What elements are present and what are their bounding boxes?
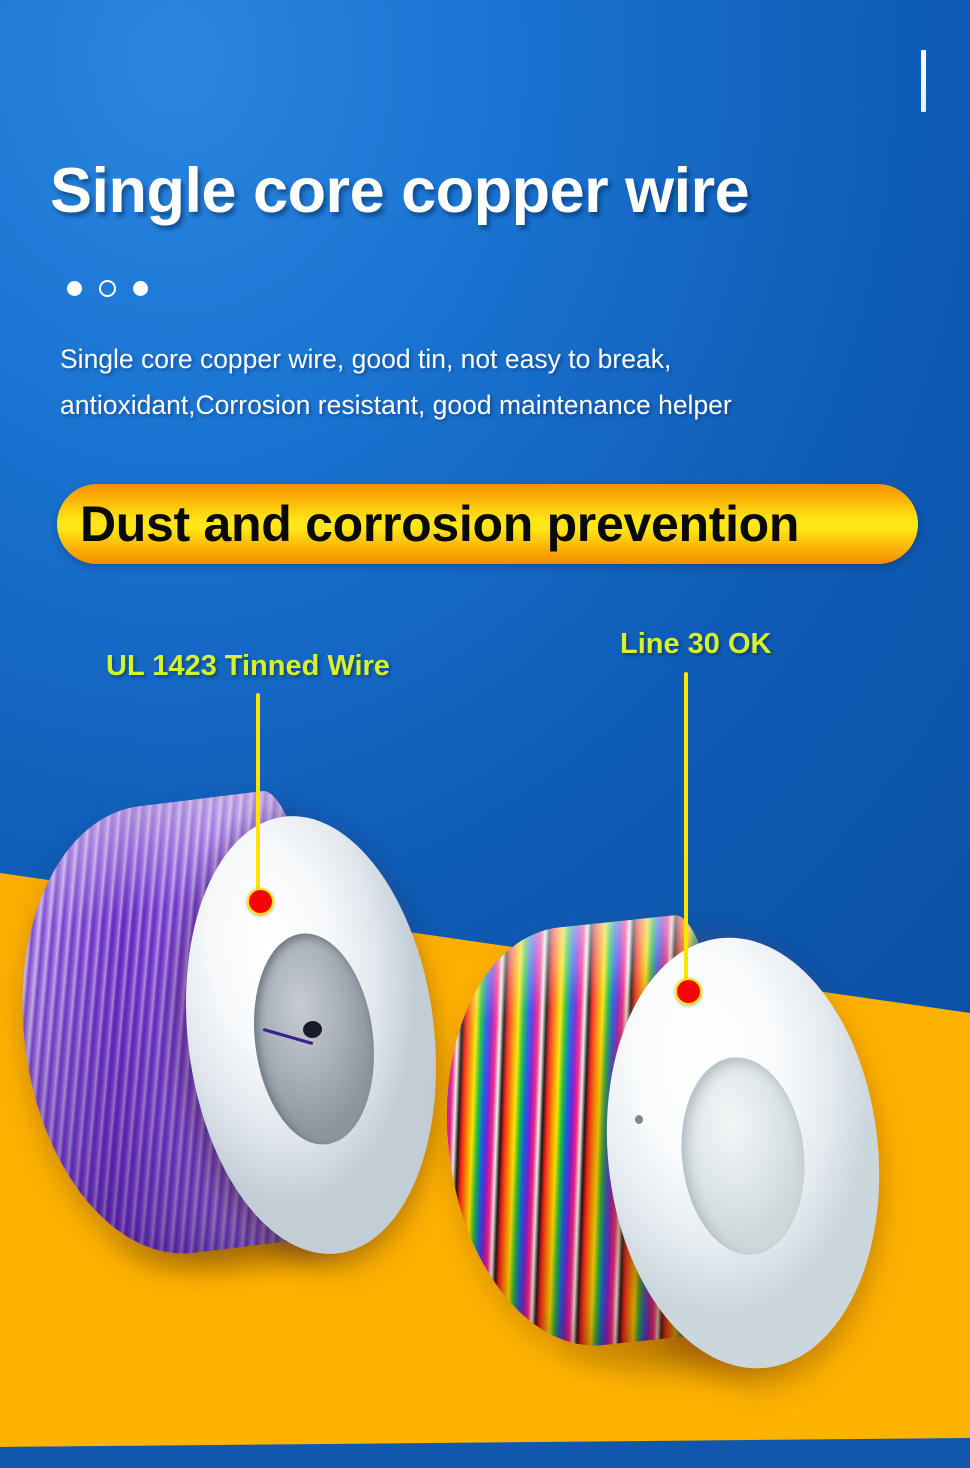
carousel-dot-1[interactable]: [67, 281, 82, 296]
callout-leader-line-left: [256, 693, 260, 898]
subtitle-text: Single core copper wire, good tin, not e…: [60, 336, 920, 428]
callout-hotspot-right[interactable]: [675, 978, 702, 1005]
carousel-dot-3[interactable]: [133, 281, 148, 296]
purple-wire-spool: [10, 785, 440, 1280]
rainbow-spool-speck: [635, 1115, 643, 1124]
callout-label-ul-1423: UL 1423 Tinned Wire: [106, 650, 390, 683]
product-banner: Single core copper wire Single core copp…: [0, 0, 970, 1468]
feature-pill: Dust and corrosion prevention: [57, 484, 918, 564]
feature-pill-label: Dust and corrosion prevention: [80, 495, 799, 553]
page-title: Single core copper wire: [50, 155, 749, 227]
carousel-dots: [67, 280, 148, 297]
carousel-dot-2[interactable]: [99, 280, 116, 297]
subtitle-line-1: Single core copper wire, good tin, not e…: [60, 336, 920, 382]
callout-hotspot-left[interactable]: [247, 888, 274, 915]
rainbow-wire-spool: [440, 915, 905, 1395]
vertical-accent-bar-icon: [921, 50, 926, 112]
callout-label-line-30-ok: Line 30 OK: [620, 628, 772, 661]
subtitle-line-2: antioxidant,Corrosion resistant, good ma…: [60, 382, 920, 428]
callout-leader-line-right: [684, 672, 688, 984]
